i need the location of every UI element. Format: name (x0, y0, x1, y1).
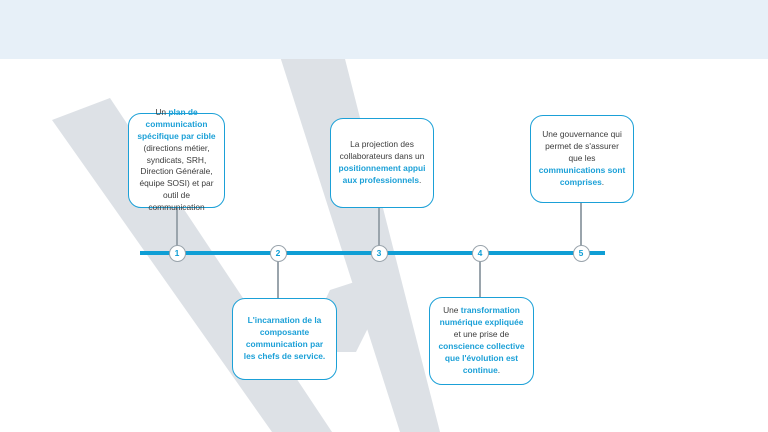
timeline-marker-4-label: 4 (478, 249, 483, 258)
principle-box-1[interactable]: Un plan de communication spécifique par … (128, 113, 225, 208)
principle-box-3-text: La projection des collaborateurs dans un… (338, 139, 426, 187)
principle-box-4[interactable]: Une transformation numérique expliquée e… (429, 297, 534, 385)
principle-box-1-text: Un plan de communication spécifique par … (136, 107, 217, 214)
timeline-marker-3[interactable]: 3 (371, 245, 388, 262)
principle-box-5-text: Une gouvernance qui permet de s'assurer … (538, 129, 626, 189)
principle-box-5[interactable]: Une gouvernance qui permet de s'assurer … (530, 115, 634, 203)
principle-box-4-text: Une transformation numérique expliquée e… (437, 305, 526, 377)
principle-box-2-text: L'incarnation de la composante communica… (240, 315, 329, 363)
timeline-marker-3-label: 3 (377, 249, 382, 258)
timeline-marker-2-label: 2 (276, 249, 281, 258)
timeline-marker-5-label: 5 (579, 249, 584, 258)
timeline-marker-2[interactable]: 2 (270, 245, 287, 262)
principle-box-2[interactable]: L'incarnation de la composante communica… (232, 298, 337, 380)
slide-canvas: La stratégie de communication : 6 grands… (0, 0, 768, 432)
header-band (0, 0, 768, 59)
timeline-marker-1[interactable]: 1 (169, 245, 186, 262)
principle-box-3[interactable]: La projection des collaborateurs dans un… (330, 118, 434, 208)
timeline-marker-1-label: 1 (175, 249, 180, 258)
timeline-marker-4[interactable]: 4 (472, 245, 489, 262)
v-logo-watermark (0, 0, 768, 432)
timeline-marker-5[interactable]: 5 (573, 245, 590, 262)
